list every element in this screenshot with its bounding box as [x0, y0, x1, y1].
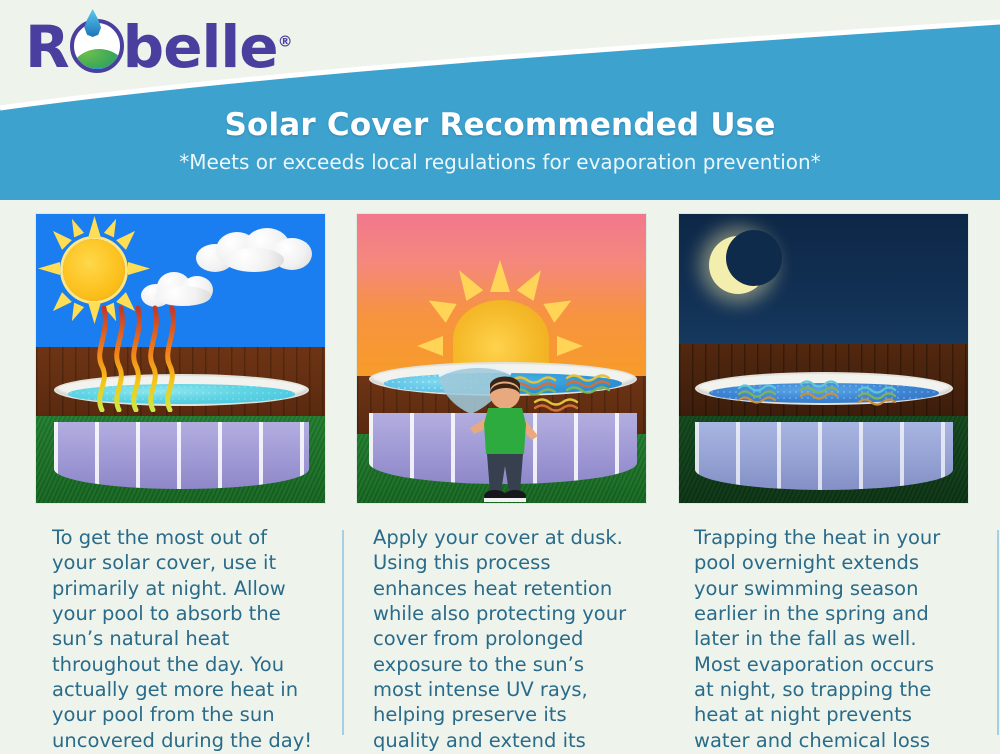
dusk-pool-illustration [356, 213, 647, 504]
brand-logo-wordmark: R belle® [25, 18, 292, 76]
caption-night: Trapping the heat in your pool overnight… [694, 525, 959, 754]
registered-trademark-icon: ® [278, 33, 292, 51]
column-dusk: Apply your cover at dusk. Using this pro… [333, 205, 666, 754]
caption-daytime: To get the most out of your solar cover,… [52, 525, 317, 753]
caption-dusk: Apply your cover at dusk. Using this pro… [373, 525, 638, 754]
person-icon [462, 372, 548, 503]
crescent-moon-icon [709, 236, 767, 294]
daytime-pool-illustration [35, 213, 326, 504]
content-columns: To get the most out of your solar cover,… [0, 205, 1000, 754]
night-pool-illustration [678, 213, 969, 504]
header-banner: R belle® Solar Cover Recommended Use *Me… [0, 0, 1000, 200]
logo-letter-r: R [25, 13, 69, 81]
page-title: Solar Cover Recommended Use [0, 108, 1000, 142]
brand-logo[interactable]: R belle® [25, 18, 292, 76]
infographic-page: R belle® Solar Cover Recommended Use *Me… [0, 0, 1000, 754]
column-divider-1 [342, 530, 344, 735]
column-daytime: To get the most out of your solar cover,… [0, 205, 333, 754]
trapped-heat-ripple-icon [735, 380, 915, 414]
logo-letters-belle: belle [123, 13, 278, 81]
column-divider-2 [997, 530, 999, 735]
column-night: Trapping the heat in your pool overnight… [666, 205, 999, 754]
cloud-icon [196, 228, 316, 274]
above-ground-pool-covered [695, 372, 953, 490]
page-subtitle: *Meets or exceeds local regulations for … [0, 151, 1000, 173]
heat-waves-icon [92, 302, 178, 412]
header-text-block: Solar Cover Recommended Use *Meets or ex… [0, 108, 1000, 173]
droplet-icon [70, 19, 122, 71]
